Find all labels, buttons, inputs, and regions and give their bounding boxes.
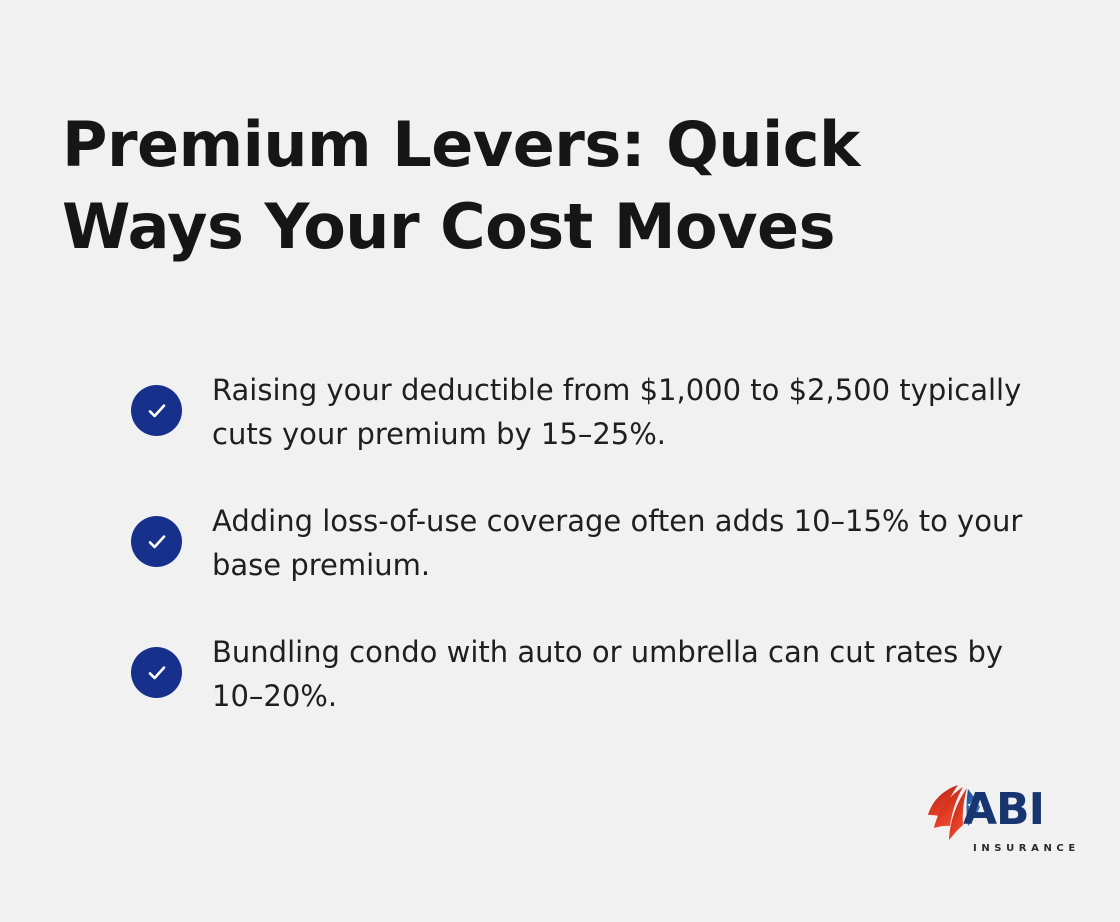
check-icon bbox=[131, 647, 182, 698]
list-item-label: Adding loss-of-use coverage often adds 1… bbox=[212, 499, 1040, 587]
list-item: Adding loss-of-use coverage often adds 1… bbox=[131, 499, 1051, 587]
list-item-label: Bundling condo with auto or umbrella can… bbox=[212, 630, 1040, 718]
check-icon bbox=[131, 385, 182, 436]
slide-canvas: Premium Levers: Quick Ways Your Cost Mov… bbox=[0, 0, 1120, 922]
logo-mark-row: ABI bbox=[925, 782, 1085, 844]
list-item: Bundling condo with auto or umbrella can… bbox=[131, 630, 1051, 718]
logo-tagline: INSURANCE bbox=[973, 844, 1080, 854]
list-item: Raising your deductible from $1,000 to $… bbox=[131, 368, 1051, 456]
title-block: Premium Levers: Quick Ways Your Cost Mov… bbox=[62, 104, 1022, 269]
logo-wordmark: ABI bbox=[963, 788, 1044, 832]
brand-logo: ABI INSURANCE bbox=[925, 782, 1085, 872]
list-item-label: Raising your deductible from $1,000 to $… bbox=[212, 368, 1040, 456]
page-title: Premium Levers: Quick Ways Your Cost Mov… bbox=[62, 104, 1022, 269]
check-icon bbox=[131, 516, 182, 567]
bullet-list: Raising your deductible from $1,000 to $… bbox=[131, 368, 1051, 718]
